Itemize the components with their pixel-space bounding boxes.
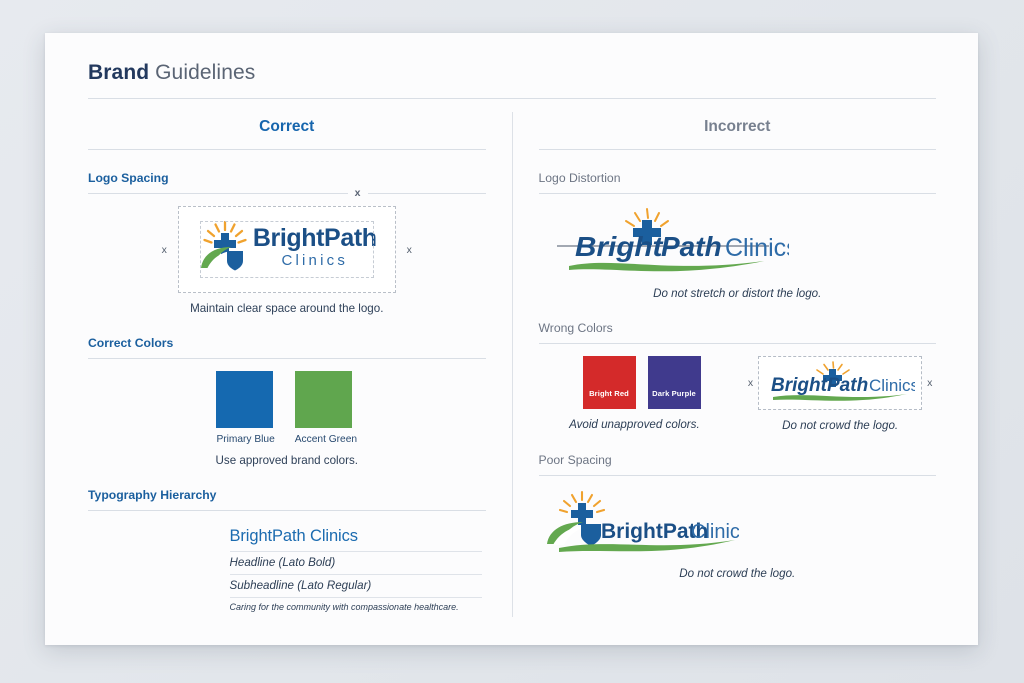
brightpath-logo-crowded: Bright Path Clinics xyxy=(765,361,915,405)
card-content: Brand Guidelines Correct Logo Spacing x … xyxy=(88,61,936,621)
logo-spacing-diagram: x xyxy=(88,206,486,293)
caption-wrong-colors: Avoid unapproved colors. xyxy=(539,418,731,431)
section-body-logo-spacing: x xyxy=(88,194,486,315)
section-body-poor-spacing: BrightPath Clinics Do not crowd the logo… xyxy=(539,476,937,580)
crowd-marker-left: x xyxy=(748,377,753,389)
wrong-colors-row: Bright Red Dark Purple Avoid unapproved … xyxy=(539,356,937,432)
typography-level-4: Caring for the community with compassion… xyxy=(230,598,482,617)
swatch-item-accent-green: Accent Green xyxy=(295,371,357,445)
svg-text:Bright: Bright xyxy=(575,232,664,263)
caption-logo-distortion: Do not stretch or distort the logo. xyxy=(539,287,937,300)
caption-logo-spacing: Maintain clear space around the logo. xyxy=(88,302,486,315)
swatch-group-wrong: Bright Red Dark Purple xyxy=(539,356,731,409)
color-swatch-accent-green xyxy=(295,371,352,428)
section-body-logo-distortion: Bright Path Clinics Do not stretch or di… xyxy=(539,194,937,300)
section-body-wrong-colors: Bright Red Dark Purple Avoid unapproved … xyxy=(539,344,937,432)
section-logo-spacing: Logo Spacing x x xyxy=(88,171,486,315)
typography-scale: BrightPath Clinics Headline (Lato Bold) … xyxy=(230,523,482,617)
logo-lockup-primary: BrightPath Clinics xyxy=(197,220,377,274)
caption-poor-spacing: Do not crowd the logo. xyxy=(539,567,937,580)
spacing-marker-left: x xyxy=(162,244,167,256)
page-background: Brand Guidelines Correct Logo Spacing x … xyxy=(0,0,1024,683)
svg-text:Clinics: Clinics xyxy=(691,521,739,543)
column-header-correct: Correct xyxy=(88,112,486,150)
section-correct-colors: Correct Colors Primary Blue Accent Green xyxy=(88,336,486,467)
section-title-wrong-colors: Wrong Colors xyxy=(539,321,937,344)
caption-correct-colors: Use approved brand colors. xyxy=(88,454,486,467)
swatch-label-primary-blue: Primary Blue xyxy=(216,434,274,445)
page-title: Brand Guidelines xyxy=(88,61,936,99)
column-correct: Correct Logo Spacing x x xyxy=(88,112,512,617)
svg-text:Clinics: Clinics xyxy=(869,376,915,395)
color-swatch-dark-purple: Dark Purple xyxy=(648,356,701,409)
caption-crowded-logo: Do not crowd the logo. xyxy=(744,419,936,432)
section-title-typography: Typography Hierarchy xyxy=(88,488,486,511)
svg-text:Path: Path xyxy=(827,375,868,396)
section-title-poor-spacing: Poor Spacing xyxy=(539,453,937,476)
page-title-rest: Guidelines xyxy=(149,61,255,84)
guidelines-card: Brand Guidelines Correct Logo Spacing x … xyxy=(45,33,978,645)
section-title-correct-colors: Correct Colors xyxy=(88,336,486,359)
typography-level-2: Headline (Lato Bold) xyxy=(230,552,482,575)
swatch-group-correct: Primary Blue Accent Green xyxy=(88,371,486,445)
section-body-correct-colors: Primary Blue Accent Green Use approved b… xyxy=(88,359,486,467)
section-title-logo-distortion: Logo Distortion xyxy=(539,171,937,194)
section-typography: Typography Hierarchy BrightPath Clinics … xyxy=(88,488,486,617)
brightpath-logo-poor-spacing: BrightPath Clinics xyxy=(539,488,937,558)
section-title-logo-spacing-label: Logo Spacing xyxy=(88,171,169,185)
logo-wordmark-primary: BrightPath xyxy=(253,226,377,251)
crowded-logo-box: Bright Path Clinics xyxy=(758,356,922,410)
section-logo-distortion: Logo Distortion xyxy=(539,171,937,300)
svg-text:Bright: Bright xyxy=(771,375,828,396)
clearspace-box: BrightPath Clinics xyxy=(178,206,396,293)
swatch-label-dark-purple: Dark Purple xyxy=(652,389,696,398)
logo-wordmark-secondary: Clinics xyxy=(281,253,348,268)
brightpath-logo-distorted: Bright Path Clinics xyxy=(539,206,937,278)
page-title-strong: Brand xyxy=(88,61,149,84)
logo-wordmark: BrightPath Clinics xyxy=(253,226,377,268)
section-title-logo-spacing: Logo Spacing x xyxy=(88,171,486,194)
brightpath-logo-icon xyxy=(197,220,253,274)
wrong-colors-left: Bright Red Dark Purple Avoid unapproved … xyxy=(539,356,731,431)
spacing-marker-top: x xyxy=(348,186,368,200)
section-wrong-colors: Wrong Colors Bright Red Dark xyxy=(539,321,937,432)
typography-level-1: BrightPath Clinics xyxy=(230,523,482,552)
wrong-colors-right: x xyxy=(744,356,936,432)
section-body-typography: BrightPath Clinics Headline (Lato Bold) … xyxy=(88,511,486,617)
color-swatch-primary-blue xyxy=(216,371,273,428)
crowded-logo-diagram: x xyxy=(744,356,936,410)
crowd-marker-right: x xyxy=(927,377,932,389)
section-poor-spacing: Poor Spacing xyxy=(539,453,937,580)
swatch-label-accent-green: Accent Green xyxy=(295,434,357,445)
spacing-marker-right: x xyxy=(407,244,412,256)
column-incorrect: Incorrect Logo Distortion xyxy=(512,112,937,617)
comparison-columns: Correct Logo Spacing x x xyxy=(88,112,936,617)
svg-text:Path: Path xyxy=(661,231,722,262)
typography-level-3: Subheadline (Lato Regular) xyxy=(230,575,482,598)
column-header-incorrect: Incorrect xyxy=(539,112,937,150)
swatch-label-bright-red: Bright Red xyxy=(589,389,629,398)
color-swatch-bright-red: Bright Red xyxy=(583,356,636,409)
swatch-item-primary-blue: Primary Blue xyxy=(216,371,274,445)
svg-text:Clinics: Clinics xyxy=(725,234,789,262)
